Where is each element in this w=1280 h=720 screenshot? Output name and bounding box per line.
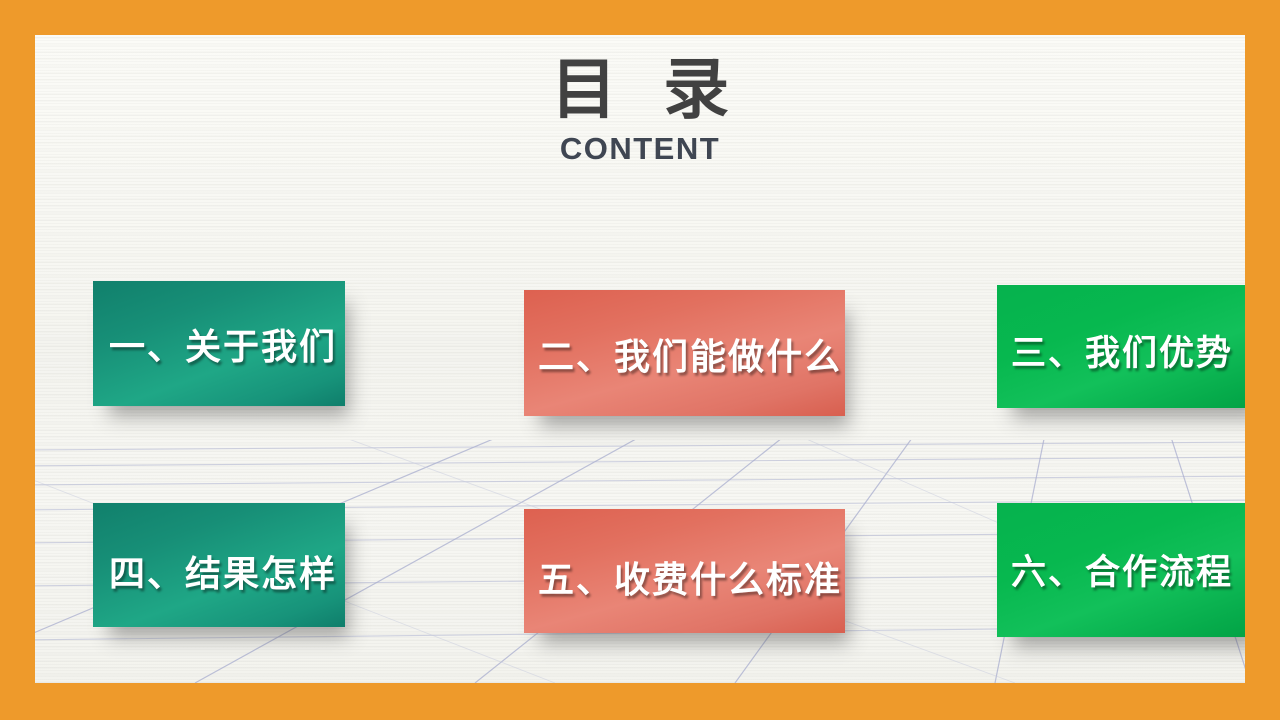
agenda-item-3[interactable]: 三、我们优势 (997, 285, 1245, 408)
slide-header: 目 录 CONTENT (35, 53, 1245, 166)
agenda-item-1-label: 一、关于我们 (93, 318, 345, 406)
agenda-item-1[interactable]: 一、关于我们 (93, 281, 345, 406)
agenda-item-5[interactable]: 五、收费什么标准 (524, 509, 845, 633)
agenda-item-5-label: 五、收费什么标准 (524, 551, 845, 633)
agenda-item-4-label: 四、结果怎样 (93, 545, 345, 627)
presentation-slide: 目 录 CONTENT 一、关于我们 二、我们能做什么 三、我们优势 四、结果怎… (0, 0, 1280, 720)
agenda-item-2[interactable]: 二、我们能做什么 (524, 290, 845, 416)
agenda-item-6[interactable]: 六、合作流程 (997, 503, 1245, 637)
agenda-item-2-label: 二、我们能做什么 (524, 328, 845, 416)
agenda-item-4[interactable]: 四、结果怎样 (93, 503, 345, 627)
page-subtitle: CONTENT (35, 132, 1245, 166)
page-title: 目 录 (35, 53, 1245, 126)
agenda-item-3-label: 三、我们优势 (997, 325, 1245, 408)
agenda-item-6-label: 六、合作流程 (997, 544, 1245, 637)
slide-canvas: 目 录 CONTENT 一、关于我们 二、我们能做什么 三、我们优势 四、结果怎… (35, 35, 1245, 683)
